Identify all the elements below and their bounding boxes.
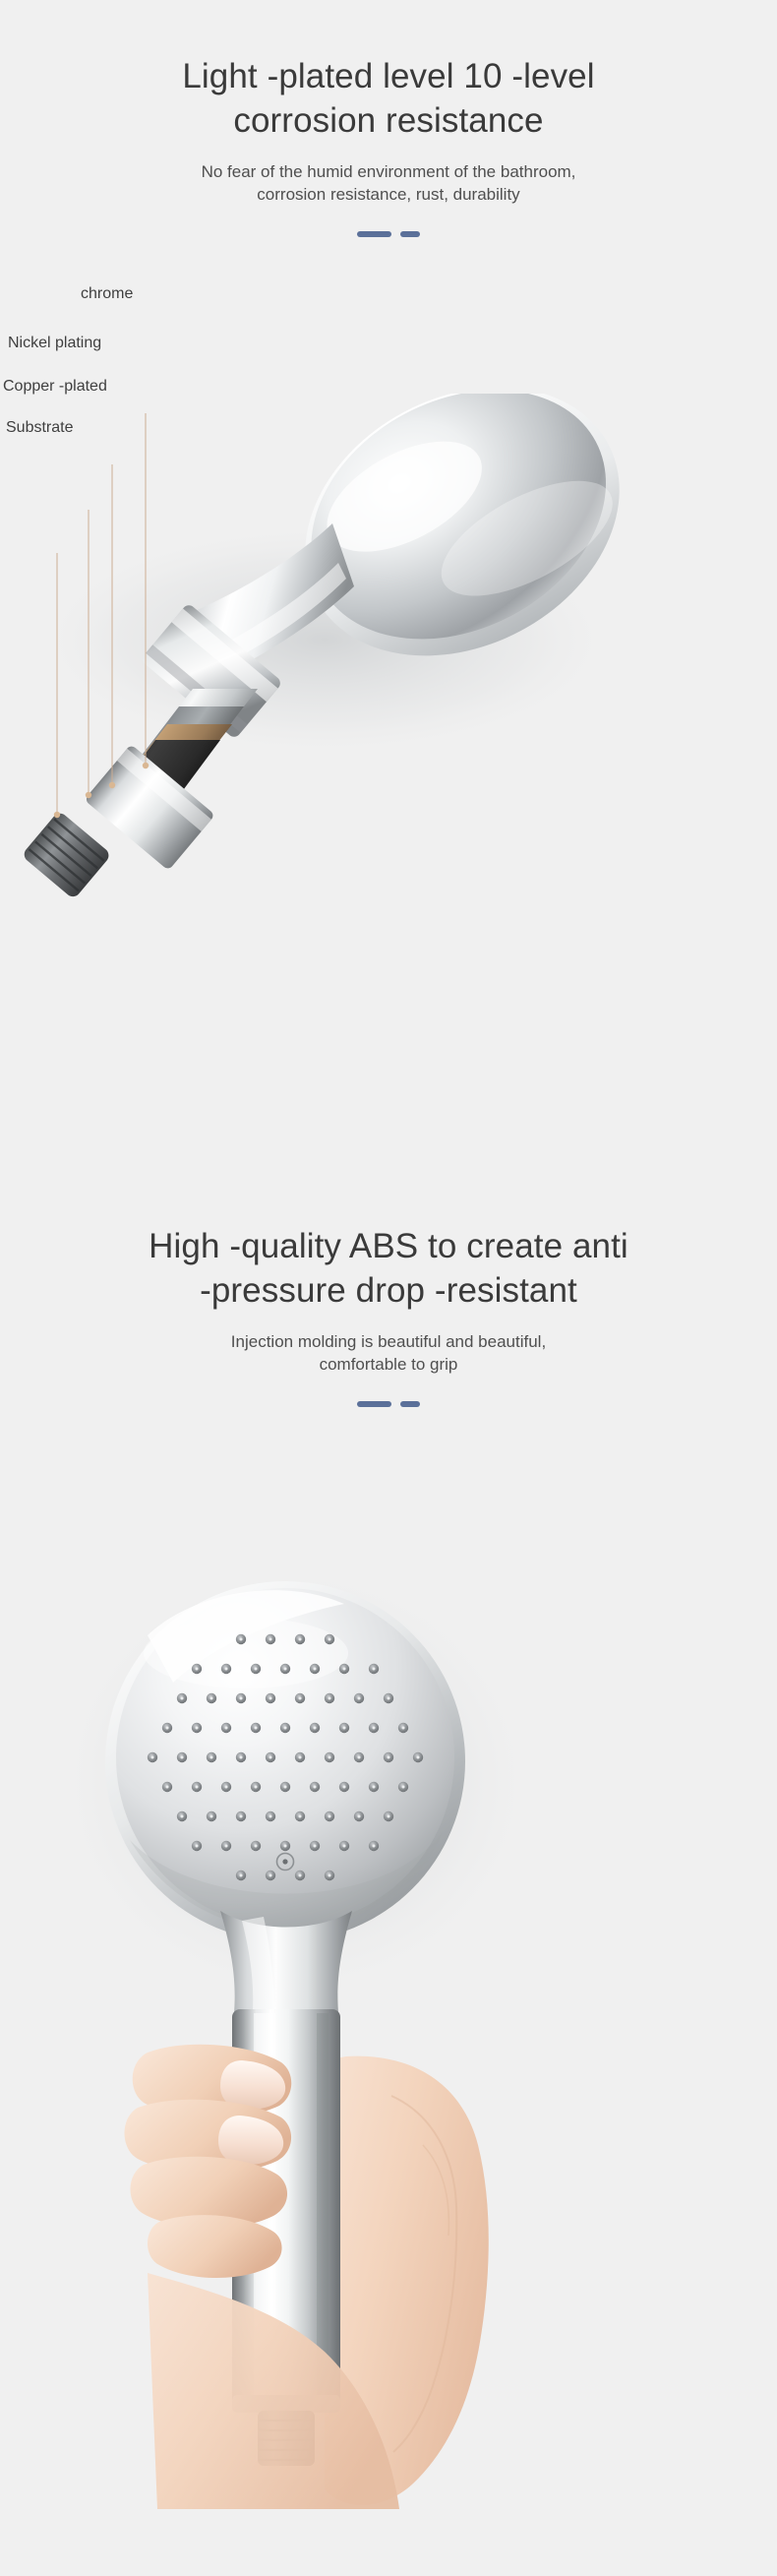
nozzle-center: [240, 1874, 243, 1877]
nozzle-center: [151, 1756, 154, 1759]
nozzle-center: [255, 1668, 258, 1671]
nozzle-center: [329, 1638, 331, 1641]
nozzle-center: [358, 1697, 361, 1700]
nozzle-center: [240, 1697, 243, 1700]
shower-head-cutaway-svg: [0, 394, 777, 1043]
nozzle-center: [284, 1668, 287, 1671]
nozzle-center: [269, 1756, 272, 1759]
section-two-title-line-1: High -quality ABS to create anti: [39, 1225, 738, 1269]
nozzle-center: [329, 1815, 331, 1818]
section-abs-material: High -quality ABS to create anti -pressu…: [0, 1171, 777, 2576]
nozzle-center: [255, 1727, 258, 1730]
nozzle-center: [166, 1786, 169, 1789]
nozzle-center: [388, 1697, 390, 1700]
nozzle-center: [225, 1727, 228, 1730]
section-one-header: Light -plated level 10 -level corrosion …: [0, 55, 777, 237]
nozzle-center: [314, 1727, 317, 1730]
nozzle-center: [358, 1756, 361, 1759]
callout-substrate: Substrate: [6, 419, 73, 437]
nozzle-center: [388, 1815, 390, 1818]
nozzle-center: [181, 1815, 184, 1818]
divider-dash-short-2: [400, 1401, 420, 1407]
nozzle-center: [255, 1845, 258, 1848]
nozzle-center: [210, 1697, 213, 1700]
nozzle-center: [255, 1786, 258, 1789]
nozzle-center: [269, 1815, 272, 1818]
callout-chrome: chrome: [81, 285, 133, 303]
section-two-subtitle-line-1: Injection molding is beautiful and beaut…: [69, 1330, 708, 1353]
nozzle-center: [373, 1845, 376, 1848]
section-one-divider: [0, 231, 777, 237]
nozzle-center: [196, 1668, 199, 1671]
section-two-subtitle: Injection molding is beautiful and beaut…: [0, 1330, 777, 1377]
nozzle-center: [225, 1786, 228, 1789]
nozzle-center: [181, 1697, 184, 1700]
nozzle-center: [196, 1845, 199, 1848]
nozzle-center: [329, 1756, 331, 1759]
section-corrosion-resistance: Light -plated level 10 -level corrosion …: [0, 0, 777, 1171]
section-two-title: High -quality ABS to create anti -pressu…: [0, 1225, 777, 1314]
nozzle-center: [210, 1756, 213, 1759]
nozzle-center: [402, 1786, 405, 1789]
leader-dot-substrate: [54, 812, 60, 818]
divider-dash-short: [400, 231, 420, 237]
nozzle-center: [269, 1638, 272, 1641]
nozzle-center: [225, 1668, 228, 1671]
section-one-title: Light -plated level 10 -level corrosion …: [0, 55, 777, 144]
section-one-title-line-2: corrosion resistance: [39, 99, 738, 144]
divider-dash-long: [357, 231, 391, 237]
shower-head-cutaway-illustration: chrome Nickel plating Copper -plated Sub…: [0, 394, 777, 1043]
section-two-divider: [0, 1401, 777, 1407]
nozzle-center: [210, 1815, 213, 1818]
nozzle-center: [196, 1786, 199, 1789]
nozzle-center: [196, 1727, 199, 1730]
nozzle-center: [284, 1786, 287, 1789]
nozzle-center: [402, 1727, 405, 1730]
nozzle-center: [373, 1727, 376, 1730]
nozzle-center: [329, 1874, 331, 1877]
nozzle-center: [181, 1756, 184, 1759]
callout-nickel-plating: Nickel plating: [8, 335, 101, 352]
nozzle-center: [166, 1727, 169, 1730]
nozzle-center: [373, 1668, 376, 1671]
hand-shower-svg: [0, 1466, 777, 2576]
nozzle-center: [417, 1756, 420, 1759]
section-two-subtitle-line-2: comfortable to grip: [69, 1353, 708, 1376]
leader-dot-copper: [86, 792, 91, 798]
callout-copper-plated: Copper -plated: [3, 378, 107, 396]
nozzle-center: [299, 1874, 302, 1877]
divider-dash-long-2: [357, 1401, 391, 1407]
hand-holding-shower-head-illustration: [0, 1466, 777, 2576]
section-one-subtitle-line-1: No fear of the humid environment of the …: [69, 160, 708, 183]
nozzle-center: [358, 1815, 361, 1818]
nozzle-center: [284, 1727, 287, 1730]
nozzle-center: [284, 1845, 287, 1848]
nozzle-center: [388, 1756, 390, 1759]
spray-face: [105, 1581, 465, 1941]
nozzle-center: [240, 1756, 243, 1759]
nozzle-center: [299, 1697, 302, 1700]
nozzle-center: [343, 1786, 346, 1789]
nozzle-center: [314, 1668, 317, 1671]
section-two-title-line-2: -pressure drop -resistant: [39, 1269, 738, 1314]
section-one-title-line-1: Light -plated level 10 -level: [39, 55, 738, 99]
nozzle-center: [299, 1815, 302, 1818]
nozzle-center: [343, 1668, 346, 1671]
leader-dot-nickel: [109, 782, 115, 788]
nozzle-center: [343, 1845, 346, 1848]
product-detail-page: Light -plated level 10 -level corrosion …: [0, 0, 777, 2576]
section-one-subtitle: No fear of the humid environment of the …: [0, 160, 777, 207]
section-two-header: High -quality ABS to create anti -pressu…: [0, 1225, 777, 1407]
leader-dot-chrome: [143, 763, 149, 768]
nozzle-center: [240, 1815, 243, 1818]
nozzle-center: [299, 1638, 302, 1641]
nozzle-center: [343, 1727, 346, 1730]
nozzle-center: [225, 1845, 228, 1848]
threaded-end: [21, 810, 111, 899]
nozzle-center: [373, 1786, 376, 1789]
nozzle-center: [329, 1697, 331, 1700]
nozzle-center: [240, 1638, 243, 1641]
nozzle-center: [299, 1756, 302, 1759]
nozzle-center: [314, 1786, 317, 1789]
section-one-subtitle-line-2: corrosion resistance, rust, durability: [69, 183, 708, 206]
nozzle-center: [269, 1697, 272, 1700]
nozzle-center: [269, 1874, 272, 1877]
nozzle-center: [314, 1845, 317, 1848]
